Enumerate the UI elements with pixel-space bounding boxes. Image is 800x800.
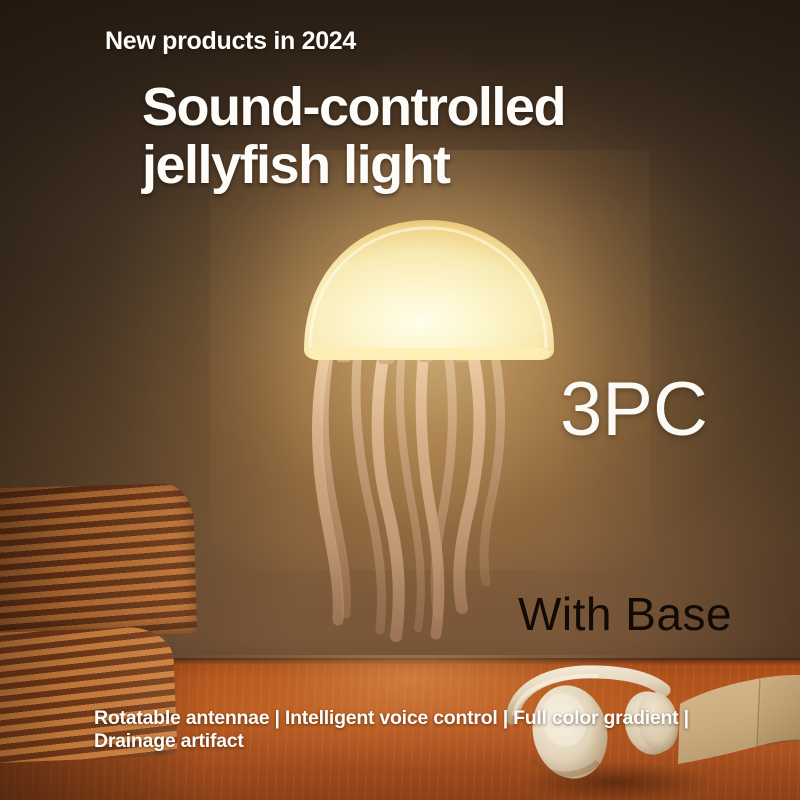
title-line-1: Sound-controlled: [142, 78, 565, 136]
feature-list-text: Rotatable antennae | Intelligent voice c…: [94, 707, 744, 753]
wall-right-shadow: [560, 0, 800, 672]
quantity-badge: 3PC: [560, 366, 708, 453]
kicker-text: New products in 2024: [105, 27, 356, 56]
page-title: Sound-controlled jellyfish light: [142, 78, 565, 194]
title-line-2: jellyfish light: [142, 136, 565, 194]
lamp-tentacles: [318, 350, 501, 636]
base-included-badge: With Base: [518, 587, 732, 641]
lamp-dome: [304, 220, 554, 360]
striped-pillow-back-shading: [0, 483, 197, 639]
product-banner-image: New products in 2024 Sound-controlled je…: [0, 0, 800, 800]
